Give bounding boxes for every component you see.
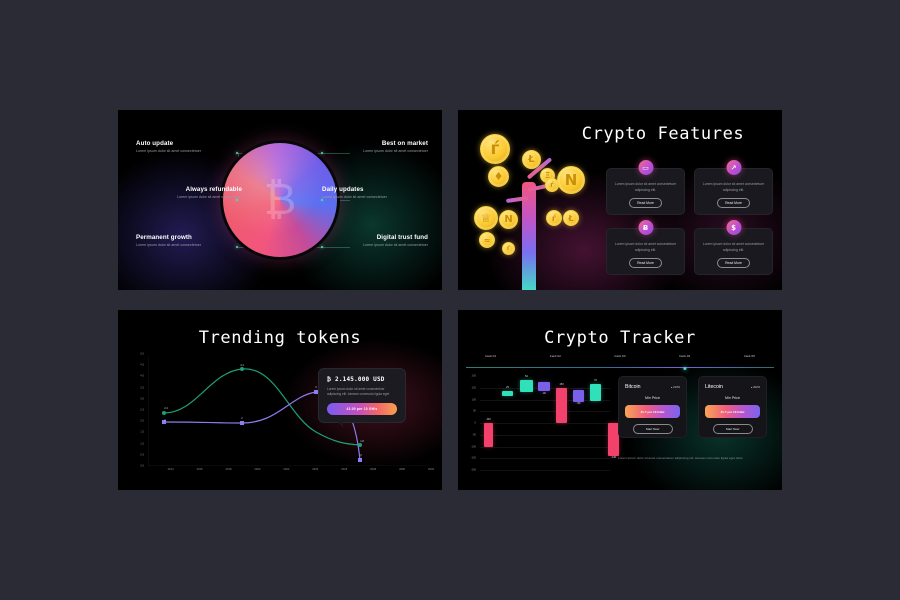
bar-value-label: 70 xyxy=(594,379,597,382)
item-desc: Lorem ipsum dolor sit amet consectetuer xyxy=(136,149,234,155)
y-tick-label: 2.5 xyxy=(140,409,144,412)
point-label: 1.8 xyxy=(360,440,364,443)
x-tick-label: 2024 xyxy=(312,468,318,471)
feature-card-4[interactable]: $ Lorem ipsum dolor sit amet consectetue… xyxy=(694,228,773,275)
y-tick-label: 4.5 xyxy=(140,364,144,367)
y-tick-label: -200 xyxy=(471,469,476,472)
track-knob[interactable] xyxy=(683,367,686,370)
item-desc: Lorem ipsum dolor sit amet consectetuer xyxy=(330,243,428,249)
read-more-button[interactable]: Read More xyxy=(717,198,750,208)
item-title: Best on market xyxy=(330,140,428,147)
bar[interactable]: 100 xyxy=(484,423,493,447)
tooltip-price: ₿ 2.145.000 USD xyxy=(327,376,397,383)
y-tick-label: 4.0 xyxy=(140,375,144,378)
point-label: 2 xyxy=(164,419,165,422)
point-label: 0 xyxy=(360,454,361,457)
read-more-button[interactable]: Read More xyxy=(629,258,662,268)
item-title: Always refundable xyxy=(144,186,242,193)
point-label: 2.4 xyxy=(164,407,168,410)
infographic-item-auto-update[interactable]: Auto update Lorem ipsum dolor sit amet c… xyxy=(136,140,234,155)
y-tick-label: 2.0 xyxy=(140,420,144,423)
dollar-icon: $ xyxy=(726,220,741,235)
y-tick-label: 50 xyxy=(473,410,476,413)
coin-dogecoin: ѓ xyxy=(502,242,515,255)
bar-value-label: 150 xyxy=(559,383,563,386)
bar-value-label: 100 xyxy=(486,418,490,421)
bar-chart-plot: 1002552-40150-5070-140 xyxy=(480,376,610,470)
node-dot xyxy=(321,152,323,154)
price-cta-button[interactable]: 41.7 per 10 GH/s xyxy=(625,405,680,418)
feature-card-3[interactable]: Ƀ Lorem ipsum dolor sit amet consectetue… xyxy=(606,228,685,275)
x-tick-label: 2030 xyxy=(399,468,405,471)
infographic-item-digital-trust-fund[interactable]: Digital trust fund Lorem ipsum dolor sit… xyxy=(330,234,428,249)
price-tooltip[interactable]: ₿ 2.145.000 USD Lorem ipsum dolor sit am… xyxy=(318,368,406,423)
item-title: Auto update xyxy=(136,140,234,147)
y-tick-label: -100 xyxy=(471,445,476,448)
track-label[interactable]: track 01 xyxy=(485,354,496,358)
x-tick-label: 2026 xyxy=(341,468,347,471)
slide-crypto-infographic[interactable]: Auto update Lorem ipsum dolor sit amet c… xyxy=(118,110,442,290)
track-label[interactable]: track 03 xyxy=(614,354,625,358)
bar[interactable]: 25 xyxy=(502,391,513,396)
change-badge: ▴ 210% xyxy=(671,385,680,389)
x-tick-label: 2018 xyxy=(225,468,231,471)
presentation-preview: Auto update Lorem ipsum dolor sit amet c… xyxy=(0,0,900,600)
read-more-button[interactable]: Read More xyxy=(629,198,662,208)
y-tick-label: 5.0 xyxy=(140,353,144,356)
y-tick-label: 0.0 xyxy=(140,465,144,468)
item-desc: Lorem ipsum dolor sit amet consectetuer xyxy=(330,149,428,155)
slide-crypto-tracker[interactable]: Crypto Tracker track 01track 02track 03t… xyxy=(458,310,782,490)
y-tick-label: 200 xyxy=(472,375,476,378)
x-tick-label: 2032 xyxy=(428,468,434,471)
coin-name: Bitcoin xyxy=(625,384,641,390)
infographic-item-permanent-growth[interactable]: Permanent growth Lorem ipsum dolor sit a… xyxy=(136,234,234,249)
y-tick-label: 3.5 xyxy=(140,386,144,389)
change-badge: ▴ 202% xyxy=(751,385,760,389)
y-tick-label: 100 xyxy=(472,398,476,401)
track-selector[interactable]: track 01track 02track 03track 04track 05 xyxy=(466,354,774,370)
tracker-card-bitcoin[interactable]: Bitcoin ▴ 210% Min Price 41.7 per 10 GH/… xyxy=(618,376,687,438)
feature-text: Lorem ipsum dolor sit amet consectetuer … xyxy=(614,242,678,253)
item-desc: Lorem ipsum dolor sit amet consectetuer xyxy=(144,195,242,201)
credit-card-icon: ▭ xyxy=(638,160,653,175)
tooltip-cta-button[interactable]: 42.00 per 10 GH/s xyxy=(327,403,397,415)
read-more-button[interactable]: Read More xyxy=(717,258,750,268)
point-label: 2 xyxy=(241,417,242,420)
bar[interactable]: 150 xyxy=(556,388,567,423)
start-now-button[interactable]: Start Now xyxy=(713,424,753,434)
start-now-button[interactable]: Start Now xyxy=(633,424,673,434)
tracker-card-litecoin[interactable]: Litecoin ▴ 202% Min Price 41.7 per 10 GH… xyxy=(698,376,767,438)
bar[interactable]: -50 xyxy=(573,390,584,402)
feature-card-1[interactable]: ▭ Lorem ipsum dolor sit amet consectetue… xyxy=(606,168,685,215)
infographic-item-best-on-market[interactable]: Best on market Lorem ipsum dolor sit ame… xyxy=(330,140,428,155)
min-price-label: Min Price xyxy=(625,396,680,400)
y-tick-label: 1.5 xyxy=(140,431,144,434)
node-dot xyxy=(236,152,238,154)
point-label: 4.4 xyxy=(240,364,244,367)
bitcoin-icon: Ƀ xyxy=(638,220,653,235)
coin-monero: ♕ xyxy=(474,206,498,230)
track-label[interactable]: track 02 xyxy=(550,354,561,358)
line-chart-y-axis: 5.04.54.03.53.02.52.01.51.00.50.0 xyxy=(128,354,144,466)
tooltip-tail xyxy=(337,421,343,428)
bar[interactable]: 52 xyxy=(520,380,533,392)
coin-ethereum: ♦ xyxy=(488,166,509,187)
infographic-item-daily-updates[interactable]: Daily updates Lorem ipsum dolor sit amet… xyxy=(322,186,420,201)
card-header: Litecoin ▴ 202% xyxy=(705,384,760,390)
bar[interactable]: 70 xyxy=(590,384,601,400)
y-tick-label: 0 xyxy=(475,422,476,425)
coin-litecoin-tiny: Ł xyxy=(563,210,579,226)
y-tick-label: 0.5 xyxy=(140,453,144,456)
page-title-crypto-tracker: Crypto Tracker xyxy=(458,328,782,348)
infographic-item-always-refundable[interactable]: Always refundable Lorem ipsum dolor sit … xyxy=(144,186,242,201)
bar[interactable]: -40 xyxy=(538,382,550,391)
node-dot xyxy=(236,199,238,201)
page-title-trending-tokens: Trending tokens xyxy=(118,328,442,348)
node-dot xyxy=(321,246,323,248)
coin-bitcoin-tiny: ѓ xyxy=(546,210,562,226)
feature-text: Lorem ipsum dolor sit amet consectetuer … xyxy=(614,182,678,193)
item-desc: Lorem ipsum dolor sit amet consectetuer xyxy=(322,195,420,201)
tooltip-body: Lorem ipsum dolor sit amet consectetuer … xyxy=(327,387,397,398)
item-title: Daily updates xyxy=(322,186,420,193)
line-chart-x-axis: 2014201620182020202220242026202820302032 xyxy=(148,468,431,476)
bar-value-label: 52 xyxy=(525,375,528,378)
feature-text: Lorem ipsum dolor sit amet consectetuer … xyxy=(702,242,766,253)
bar-value-label: -50 xyxy=(577,402,581,405)
slide-crypto-features[interactable]: Crypto Tracker Crypto Features ѓ ♦ Ł Ξ ѓ… xyxy=(458,110,782,290)
feature-text: Lorem ipsum dolor sit amet consectetuer … xyxy=(702,182,766,193)
min-price-label: Min Price xyxy=(705,396,760,400)
y-tick-label: 3.0 xyxy=(140,397,144,400)
slide-trending-tokens[interactable]: Trending tokens 5.04.54.03.53.02.52.01.5… xyxy=(118,310,442,490)
bar-value-label: -40 xyxy=(542,392,546,395)
coin-name: Litecoin xyxy=(705,384,723,390)
coin-bitcoin: ѓ xyxy=(480,134,510,164)
bar-value-label: 25 xyxy=(506,386,509,389)
track-label[interactable]: track 05 xyxy=(744,354,755,358)
rocket-icon: ↗ xyxy=(726,160,741,175)
x-tick-label: 2022 xyxy=(283,468,289,471)
card-header: Bitcoin ▴ 210% xyxy=(625,384,680,390)
x-tick-label: 2014 xyxy=(168,468,174,471)
coin-namecoin-small: N xyxy=(499,210,518,229)
x-tick-label: 2020 xyxy=(254,468,260,471)
feature-card-2[interactable]: ↗ Lorem ipsum dolor sit amet consectetue… xyxy=(694,168,773,215)
bar-value-label: -140 xyxy=(611,456,616,459)
point-label: 3 xyxy=(315,386,316,389)
y-tick-label: -150 xyxy=(471,457,476,460)
x-tick-label: 2028 xyxy=(370,468,376,471)
item-title: Permanent growth xyxy=(136,234,234,241)
x-tick-label: 2016 xyxy=(197,468,203,471)
coin-ripple: ≈ xyxy=(479,232,495,248)
bar-chart-y-axis: 200150100500-50-100-150-200 xyxy=(460,376,476,470)
item-desc: Lorem ipsum dolor sit amet consectetuer xyxy=(136,243,234,249)
tracker-note: Lorem ipsum dolor sit amet consectetuer … xyxy=(618,456,746,461)
y-tick-label: 150 xyxy=(472,386,476,389)
track-rail[interactable] xyxy=(466,367,774,368)
item-title: Digital trust fund xyxy=(330,234,428,241)
coin-namecoin: N xyxy=(557,166,585,194)
track-label[interactable]: track 04 xyxy=(679,354,690,358)
y-tick-label: 1.0 xyxy=(140,442,144,445)
coin-litecoin: Ł xyxy=(522,150,541,169)
y-tick-label: -50 xyxy=(472,433,476,436)
page-title-crypto-features: Crypto Features xyxy=(554,124,772,144)
node-dot xyxy=(236,246,238,248)
price-cta-button[interactable]: 41.7 per 10 GH/s xyxy=(705,405,760,418)
node-dot xyxy=(321,199,323,201)
